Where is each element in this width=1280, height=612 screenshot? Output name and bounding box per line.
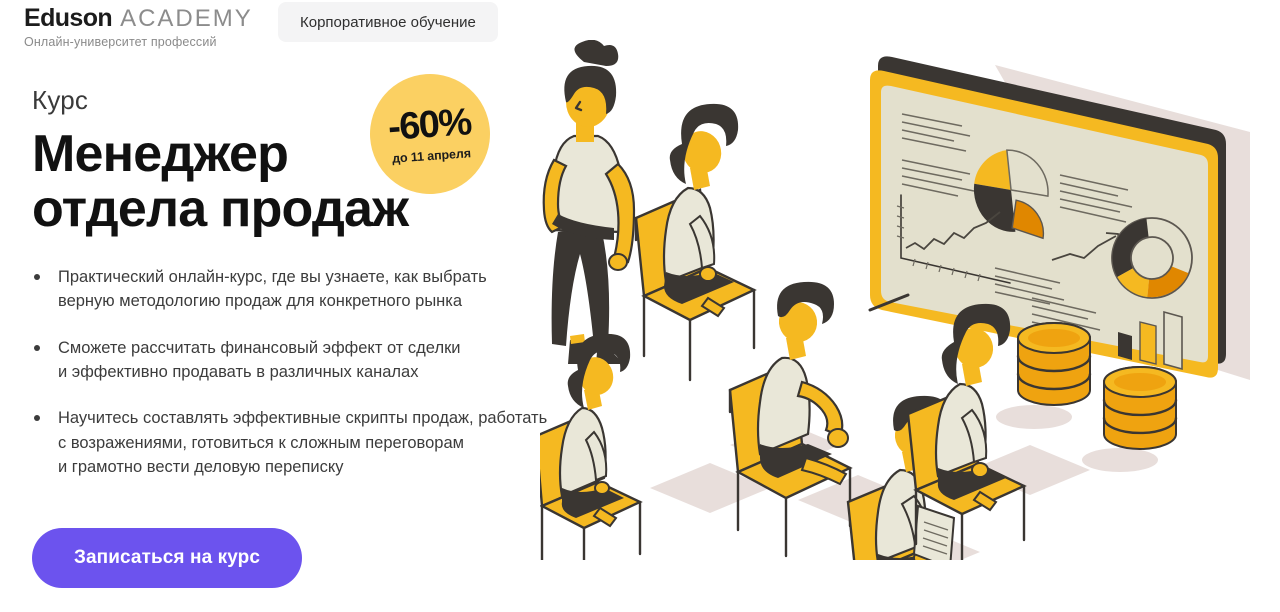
paper-sheet xyxy=(914,506,954,560)
benefits-list: Практический онлайн-курс, где вы узнаете… xyxy=(32,265,552,480)
bullet-line: верную методологию продаж для конкретног… xyxy=(58,289,552,313)
coin-stack-right xyxy=(1082,367,1176,472)
bullet-dot-icon xyxy=(34,274,40,280)
logo-tagline: Онлайн-университет профессий xyxy=(24,35,253,49)
woman-presenter-with-pointer xyxy=(544,40,908,364)
bullet-dot-icon xyxy=(34,345,40,351)
discount-percent: -60% xyxy=(387,103,472,147)
classroom-presentation-illustration: .dk { fill:#3a3632; } .amb { fill:#f5b92… xyxy=(540,40,1280,560)
coin-stack-left xyxy=(996,323,1090,429)
bullet-line: и эффективно продавать в различных канал… xyxy=(58,360,552,384)
discount-deadline: до 11 апреля xyxy=(392,146,472,165)
bullet-line: Сможете рассчитать финансовый эффект от … xyxy=(58,336,552,360)
bullet-line: и грамотно вести деловую переписку xyxy=(58,455,552,479)
audience-member-2 xyxy=(730,282,850,556)
logo-brand-text: Eduson xyxy=(24,6,112,31)
list-item: Научитесь составлять эффективные скрипты… xyxy=(32,406,552,479)
list-item: Практический онлайн-курс, где вы узнаете… xyxy=(32,265,552,314)
bullet-line: с возражениями, готовиться к сложным пер… xyxy=(58,431,552,455)
bullet-line: Практический онлайн-курс, где вы узнаете… xyxy=(58,265,552,289)
logo-wordmark: Eduson ACADEMY xyxy=(24,6,253,31)
corporate-training-button[interactable]: Корпоративное обучение xyxy=(278,2,498,42)
logo-academy-text: ACADEMY xyxy=(120,7,253,31)
enroll-button[interactable]: Записаться на курс xyxy=(32,528,302,588)
bullet-dot-icon xyxy=(34,415,40,421)
audience-member-1 xyxy=(636,104,754,380)
eduson-logo[interactable]: Eduson ACADEMY Онлайн-университет профес… xyxy=(24,6,253,49)
audience-member-3 xyxy=(540,334,640,560)
bullet-line: Научитесь составлять эффективные скрипты… xyxy=(58,406,552,430)
landing-page: Eduson ACADEMY Онлайн-университет профес… xyxy=(0,0,1280,612)
page-title-line-2: отдела продаж xyxy=(32,182,552,237)
list-item: Сможете рассчитать финансовый эффект от … xyxy=(32,336,552,385)
